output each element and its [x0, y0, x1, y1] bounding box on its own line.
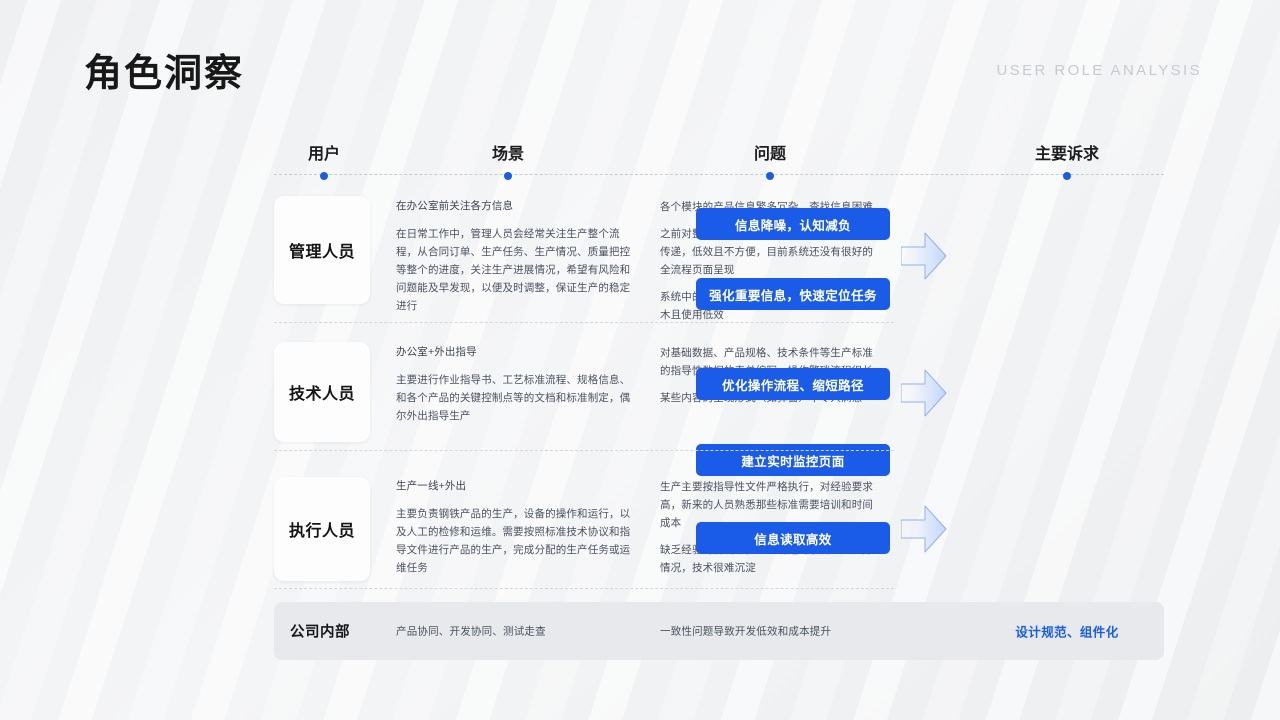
column-header-1: 场景 [492, 140, 524, 164]
scene-paragraph: 在日常工作中，管理人员会经常关注生产整个流程，从合同订单、生产任务、生产情况、质… [396, 225, 636, 315]
role-card[interactable]: 管理人员 [274, 196, 370, 304]
demand-button[interactable]: 优化操作流程、缩短路径 [696, 368, 890, 400]
scene-heading: 在办公室前关注各方信息 [396, 198, 636, 215]
row-divider [274, 588, 894, 589]
column-header-2: 问题 [754, 140, 786, 164]
flow-arrow-icon [894, 472, 954, 586]
bottom-role-label: 公司内部 [290, 621, 350, 642]
bottom-demand-link[interactable]: 设计规范、组件化 [970, 622, 1164, 641]
role-card[interactable]: 技术人员 [274, 342, 370, 442]
page-eyebrow-label: USER ROLE ANALYSIS [997, 62, 1202, 79]
scene-column: 在办公室前关注各方信息在日常工作中，管理人员会经常关注生产整个流程，从合同订单、… [396, 198, 636, 315]
demand-button[interactable]: 强化重要信息，快速定位任务 [696, 278, 890, 310]
flow-arrow-icon [894, 338, 954, 448]
column-marker-dot-2 [766, 172, 774, 180]
role-card-label: 执行人员 [289, 517, 355, 541]
scene-column: 办公室+外出指导主要进行作业指导书、工艺标准流程、规格信息、和各个产品的关键控制… [396, 344, 636, 425]
role-card[interactable]: 执行人员 [274, 477, 370, 581]
column-marker-dot-3 [1063, 172, 1071, 180]
role-card-label: 技术人员 [289, 380, 355, 404]
bottom-problem-text: 一致性问题导致开发低效和成本提升 [660, 624, 831, 639]
company-internal-row: 公司内部 产品协同、开发协同、测试走查 一致性问题导致开发低效和成本提升 设计规… [274, 602, 1164, 660]
role-card-label: 管理人员 [289, 238, 355, 262]
column-header-divider [274, 174, 1164, 176]
flow-arrow-icon [894, 192, 954, 320]
column-header-row: 用户场景问题主要诉求 [274, 140, 1164, 166]
row-divider [274, 450, 894, 451]
slide-canvas: 角色洞察 USER ROLE ANALYSIS 用户场景问题主要诉求 管理人员在… [0, 0, 1280, 720]
scene-paragraph: 主要负责钢铁产品的生产，设备的操作和运行，以及人工的检修和运维。需要按照标准技术… [396, 505, 636, 577]
column-header-0: 用户 [308, 140, 340, 164]
demand-button[interactable]: 信息降噪，认知减负 [696, 208, 890, 240]
column-header-3: 主要诉求 [1035, 140, 1099, 164]
page-title: 角色洞察 [84, 52, 244, 98]
bottom-scene-text: 产品协同、开发协同、测试走查 [396, 624, 546, 639]
column-marker-dot-0 [320, 172, 328, 180]
demand-button[interactable]: 信息读取高效 [696, 522, 890, 554]
scene-column: 生产一线+外出主要负责钢铁产品的生产，设备的操作和运行，以及人工的检修和运维。需… [396, 478, 636, 577]
scene-paragraph: 主要进行作业指导书、工艺标准流程、规格信息、和各个产品的关键控制点等的文档和标准… [396, 371, 636, 425]
demand-button[interactable]: 建立实时监控页面 [696, 444, 890, 476]
scene-heading: 生产一线+外出 [396, 478, 636, 495]
row-divider [274, 322, 894, 323]
column-marker-dot-1 [504, 172, 512, 180]
scene-heading: 办公室+外出指导 [396, 344, 636, 361]
